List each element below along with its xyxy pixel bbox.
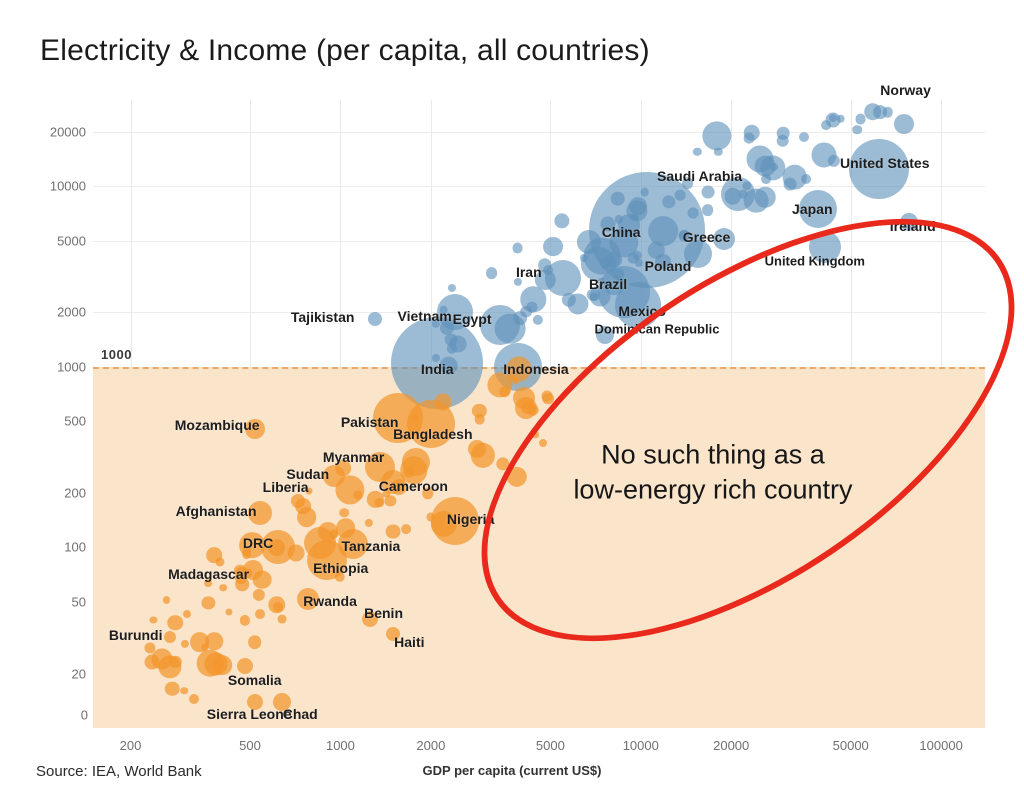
data-point-bubble [837,114,846,123]
country-label: Poland [645,258,692,274]
data-point-bubble [165,682,180,697]
callout-annotation-text: No such thing as a low-energy rich count… [573,437,852,506]
data-point-bubble [183,610,191,618]
data-point-bubble [318,522,338,542]
data-point-bubble [873,105,887,119]
country-label: Indonesia [503,361,568,377]
data-point-bubble [368,312,382,326]
country-label: Benin [364,605,403,621]
data-point-bubble [762,174,772,184]
data-point-bubble [273,602,283,612]
data-point-bubble [855,114,866,125]
country-label: Burundi [109,627,163,643]
country-label: Brazil [589,276,627,292]
country-label: United States [840,155,929,171]
data-point-bubble [611,192,626,207]
data-point-bubble [688,208,699,219]
x-axis-tick-label: 5000 [536,738,565,753]
page-title: Electricity & Income (per capita, all co… [40,34,650,68]
data-point-bubble [894,114,914,134]
data-point-bubble [164,631,176,643]
data-point-bubble [543,237,563,257]
data-point-bubble [168,615,184,631]
data-point-bubble [295,498,311,514]
x-axis-tick-label: 500 [239,738,261,753]
data-point-bubble [163,596,171,604]
country-label: Myanmar [323,449,384,465]
data-point-bubble [852,125,862,135]
data-point-bubble [702,186,715,199]
y-axis-tick-label: 200 [40,486,86,501]
data-point-bubble [336,519,356,539]
country-label: Pakistan [341,414,399,430]
gridline-horizontal [93,186,985,187]
y-axis-tick-label: 100 [40,540,86,555]
data-point-bubble [755,187,776,208]
x-axis-tick-label: 1000 [326,738,355,753]
country-label: Chad [283,706,318,722]
plot-area: 1000 ChinaIndiaUnited StatesJapanNorwayI… [93,100,985,728]
country-label: Haiti [394,634,424,650]
y-axis-tick-label: 1000 [40,359,86,374]
data-point-bubble [181,687,189,695]
data-point-bubble [145,654,160,669]
country-label: Cameroon [379,478,448,494]
data-point-bubble [339,508,349,518]
y-axis-tick-label: 10000 [40,179,86,194]
country-label: Vietnam [398,308,452,324]
data-point-bubble [770,163,778,171]
country-label: Iran [516,264,542,280]
x-axis-tick-label: 2000 [416,738,445,753]
data-point-bubble [702,204,714,216]
y-axis-tick-label: 50 [40,594,86,609]
data-point-bubble [528,405,539,416]
country-label: Tajikistan [291,309,355,325]
source-note: Source: IEA, World Bank [36,763,202,780]
x-axis-tick-label: 20000 [713,738,749,753]
data-point-bubble [256,609,266,619]
y-axis-tick-label: 20000 [40,124,86,139]
threshold-value-label: 1000 [101,347,132,362]
data-point-bubble [486,267,498,279]
data-point-bubble [640,188,649,197]
data-point-bubble [450,335,467,352]
data-point-bubble [648,216,678,246]
country-label: Ethiopia [313,560,368,576]
data-point-bubble [782,165,807,190]
data-point-bubble [512,243,523,254]
data-point-bubble [629,197,647,215]
data-point-bubble [821,120,831,130]
country-label: India [421,361,454,377]
country-label: Bangladesh [393,426,472,442]
data-point-bubble [248,636,262,650]
country-label: Afghanistan [176,503,257,519]
data-point-bubble [278,615,287,624]
data-point-bubble [513,311,527,325]
country-label: Sierra Leone [207,706,292,722]
country-label: Saudi Arabia [657,168,742,184]
data-point-bubble [402,524,412,534]
country-label: Norway [880,82,931,98]
country-label: Somalia [228,672,282,688]
x-axis-tick-label: 50000 [833,738,869,753]
data-point-bubble [675,190,686,201]
y-axis-tick-label: 500 [40,414,86,429]
country-label: Madagascar [168,566,249,582]
data-point-bubble [189,694,199,704]
chart-canvas: Electricity & Income (per capita, all co… [0,0,1024,797]
country-label: Rwanda [303,593,357,609]
data-point-bubble [799,132,809,142]
data-point-bubble [219,584,227,592]
country-label: Mozambique [175,417,260,433]
country-label: Greece [683,229,730,245]
country-label: Japan [792,201,832,217]
country-label: China [602,224,641,240]
y-axis-tick-label: 20 [40,666,86,681]
data-point-bubble [226,609,233,616]
data-point-bubble [288,545,305,562]
country-label: DRC [243,535,273,551]
data-point-bubble [725,188,742,205]
country-label: Liberia [263,479,309,495]
x-axis-title: GDP per capita (current US$) [300,763,724,778]
gridline-horizontal [93,132,985,133]
data-point-bubble [206,547,222,563]
x-axis-tick-label: 100000 [919,738,962,753]
data-point-bubble [253,570,272,589]
y-axis-tick-label: 5000 [40,233,86,248]
y-axis-tick-label: 2000 [40,305,86,320]
x-axis-tick-label: 200 [120,738,142,753]
y-axis-zero-label: 0 [74,708,88,723]
data-point-bubble [468,440,486,458]
country-label: Tanzania [341,538,400,554]
x-axis-tick-label: 10000 [623,738,659,753]
data-point-bubble [434,394,451,411]
data-point-bubble [743,125,760,142]
data-point-bubble [776,134,789,147]
country-label: Egypt [453,311,492,327]
